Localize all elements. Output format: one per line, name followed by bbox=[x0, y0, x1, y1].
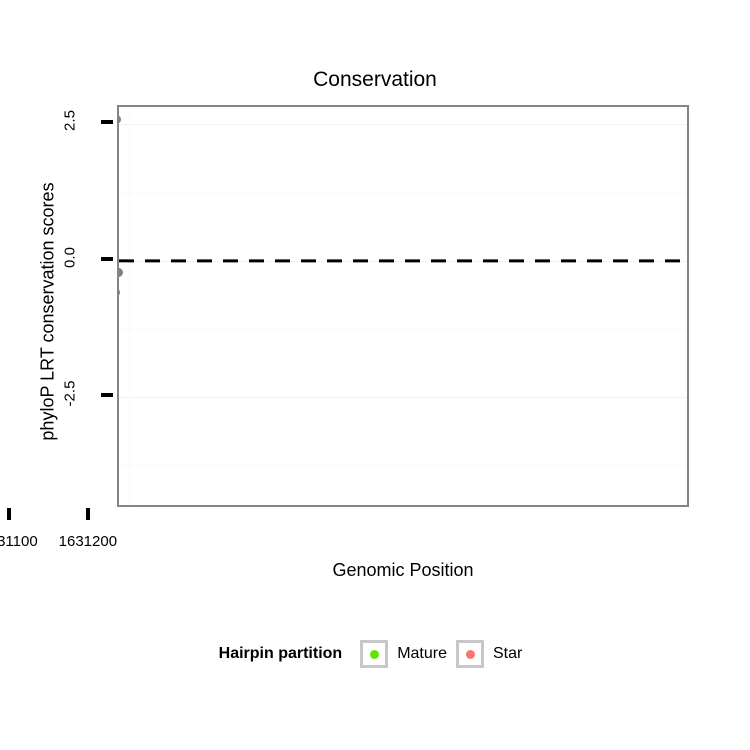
y-tick-label: -2.5 bbox=[62, 364, 79, 424]
chart-root: Conservation phyloP LRT conservation sco… bbox=[0, 0, 750, 750]
legend-label: Mature bbox=[397, 645, 447, 663]
y-tick-label: 0.0 bbox=[62, 227, 79, 287]
y-tick-label: 2.5 bbox=[62, 91, 79, 151]
legend-title: Hairpin partition bbox=[219, 645, 343, 663]
legend-key-inner bbox=[459, 643, 481, 665]
legend-dot-icon bbox=[370, 650, 379, 659]
x-axis-label: Genomic Position bbox=[117, 560, 689, 581]
legend-key[interactable] bbox=[360, 640, 388, 668]
x-tick-label: 1631100 bbox=[0, 533, 69, 550]
data-point-none bbox=[117, 303, 118, 312]
legend-entries: MatureStar bbox=[360, 640, 531, 668]
legend-label: Star bbox=[493, 645, 522, 663]
legend-dot-icon bbox=[466, 650, 475, 659]
page-title: Conservation bbox=[0, 68, 750, 92]
overlay-lines bbox=[119, 107, 689, 507]
x-tick-mark bbox=[86, 508, 90, 520]
legend-key-inner bbox=[363, 643, 385, 665]
x-tick-mark bbox=[7, 508, 11, 520]
data-point-none bbox=[117, 255, 118, 264]
plot-panel bbox=[117, 105, 689, 507]
y-axis-label: phyloP LRT conservation scores bbox=[38, 112, 59, 512]
y-tick-mark bbox=[101, 120, 113, 124]
legend-key[interactable] bbox=[456, 640, 484, 668]
y-tick-mark bbox=[101, 257, 113, 261]
legend: Hairpin partition MatureStar bbox=[0, 640, 750, 668]
y-tick-mark bbox=[101, 393, 113, 397]
